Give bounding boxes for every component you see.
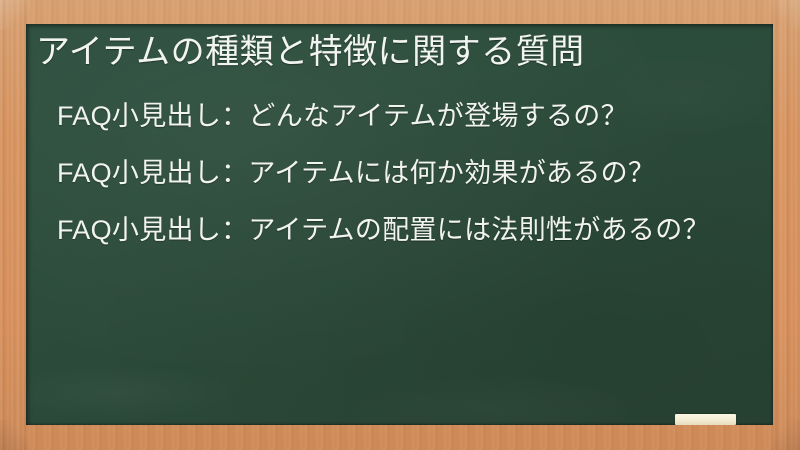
frame-corner-bottom-right [770, 420, 800, 450]
wood-grain-left-rail [0, 0, 27, 450]
chalkboard-surface: アイテムの種類と特徴に関する質問 FAQ小見出し：どんなアイテムが登場するの？ … [26, 24, 773, 425]
blackboard-frame: アイテムの種類と特徴に関する質問 FAQ小見出し：どんなアイテムが登場するの？ … [0, 0, 800, 450]
wood-grain-right-rail [773, 0, 800, 450]
faq-list-item: FAQ小見出し：アイテムの配置には法則性があるの？ [57, 211, 729, 249]
frame-corner-top-right [770, 0, 800, 30]
faq-list-item: FAQ小見出し：アイテムには何か効果があるの？ [57, 154, 729, 192]
chalk-stick-icon [675, 414, 736, 425]
faq-list-item: FAQ小見出し：どんなアイテムが登場するの？ [57, 97, 729, 135]
faq-list: FAQ小見出し：どんなアイテムが登場するの？ FAQ小見出し：アイテムには何か効… [57, 97, 729, 249]
board-title: アイテムの種類と特徴に関する質問 [36, 28, 763, 76]
